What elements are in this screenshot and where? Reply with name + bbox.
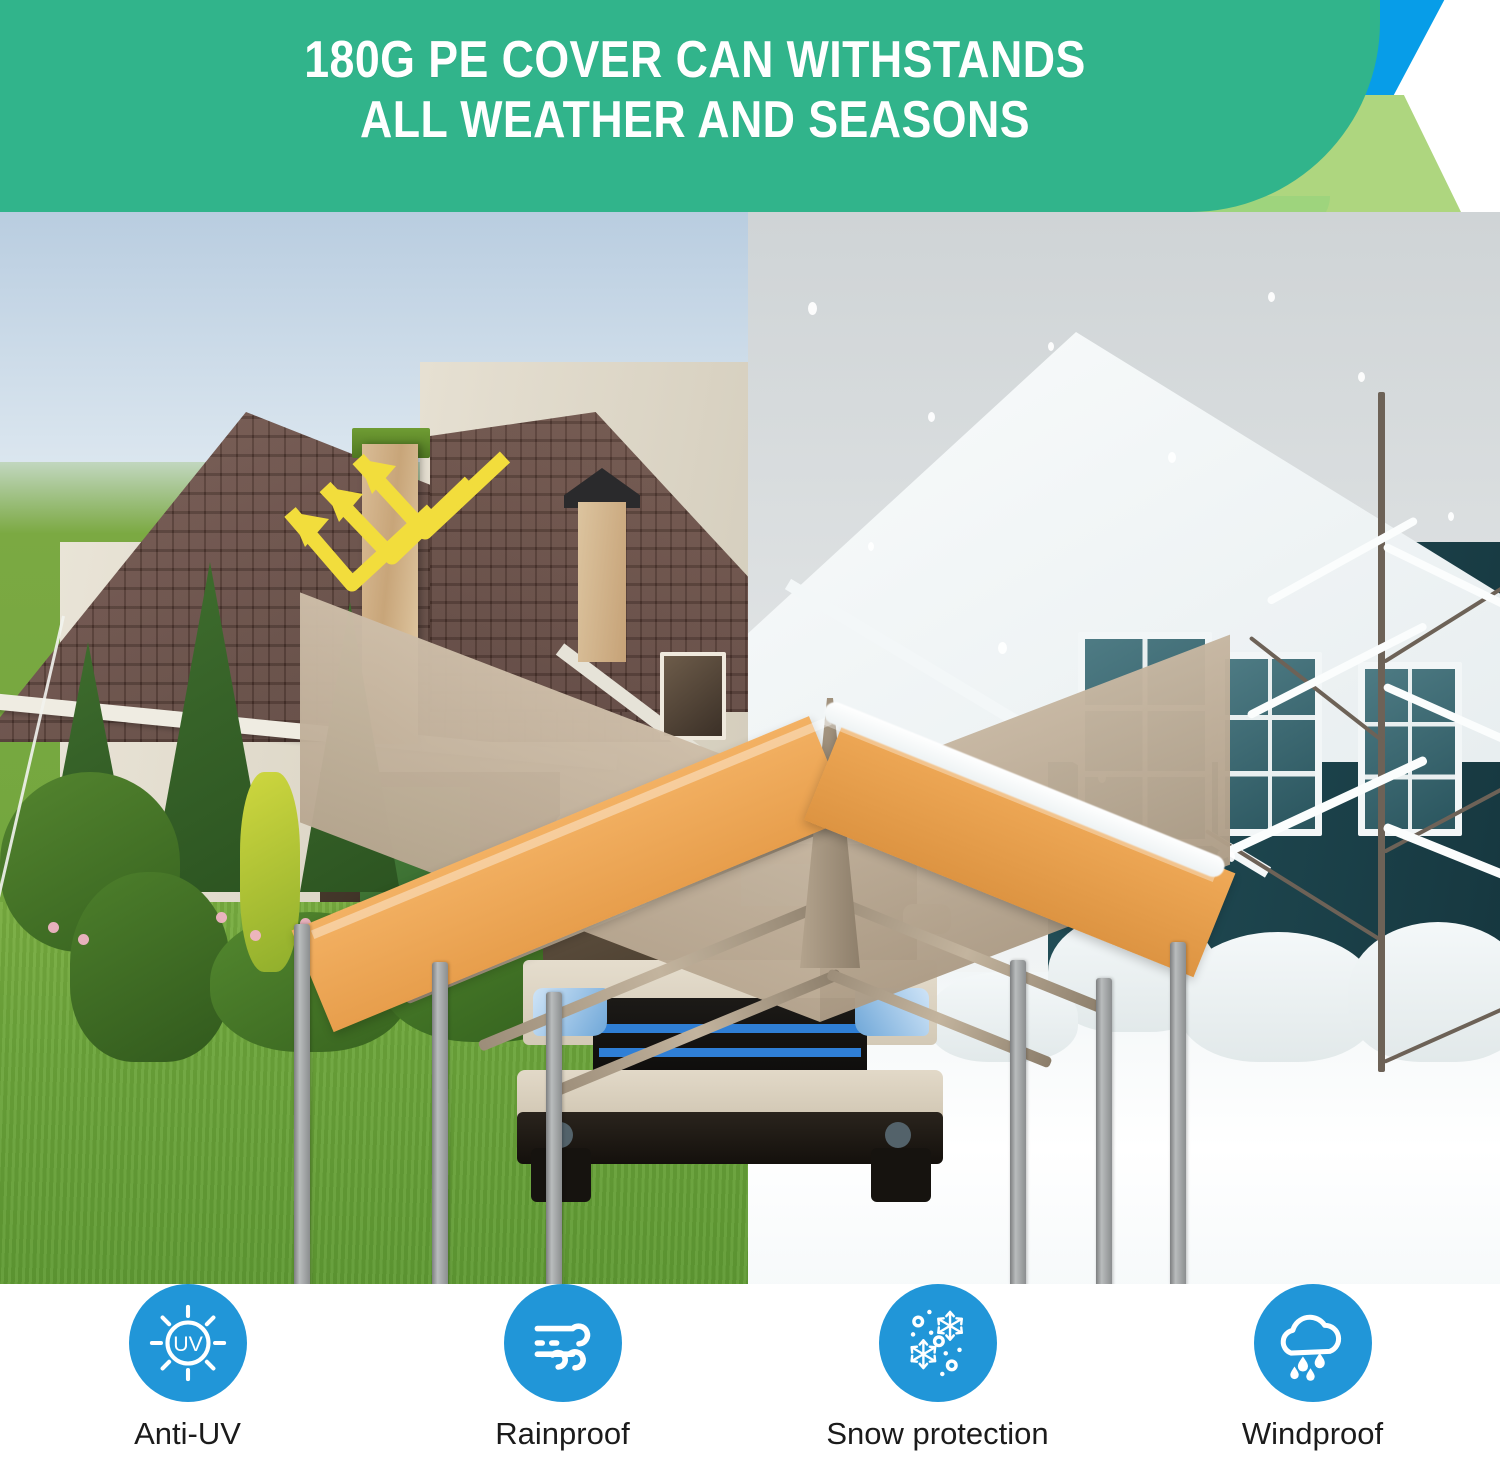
feature-anti-uv[interactable]: UV Anti-UV: [0, 1284, 375, 1452]
feature-icon-badge: [879, 1284, 997, 1402]
headline-line-1: 180G PE COVER CAN WITHSTANDS: [97, 30, 1292, 90]
carport-pole: [294, 924, 310, 1284]
product-feature-banner: 180G PE COVER CAN WITHSTANDS ALL WEATHER…: [0, 0, 1500, 1484]
feature-label: Snow protection: [826, 1416, 1048, 1452]
rain-cloud-icon: [1271, 1301, 1355, 1385]
feature-label: Anti-UV: [134, 1416, 241, 1452]
feature-icon-badge: UV: [129, 1284, 247, 1402]
header-banner: 180G PE COVER CAN WITHSTANDS ALL WEATHER…: [0, 0, 1500, 236]
svg-text:UV: UV: [173, 1332, 203, 1356]
carport-pole: [1096, 978, 1112, 1284]
carport-pole: [546, 992, 562, 1284]
carport-pole: [1170, 942, 1186, 1284]
canopy-rib: [551, 968, 842, 1097]
carport-pole: [1010, 960, 1026, 1284]
carport-pole: [432, 962, 448, 1284]
snowflake-icon: [895, 1300, 981, 1386]
feature-icon-badge: [504, 1284, 622, 1402]
feature-windproof[interactable]: Windproof: [1125, 1284, 1500, 1452]
sun-uv-icon: UV: [147, 1302, 229, 1384]
feature-icon-badge: [1254, 1284, 1372, 1402]
feature-icon-row: UV Anti-UV: [0, 1284, 1500, 1484]
product-photo: [0, 212, 1500, 1284]
headline-line-2: ALL WEATHER AND SEASONS: [97, 90, 1292, 150]
header-headline: 180G PE COVER CAN WITHSTANDS ALL WEATHER…: [97, 30, 1292, 150]
wind-icon: [523, 1303, 603, 1383]
carport-canopy: [240, 462, 1260, 1282]
feature-rainproof[interactable]: Rainproof: [375, 1284, 750, 1452]
feature-snow-protection[interactable]: Snow protection: [750, 1284, 1125, 1452]
feature-label: Windproof: [1242, 1416, 1383, 1452]
feature-label: Rainproof: [495, 1416, 629, 1452]
